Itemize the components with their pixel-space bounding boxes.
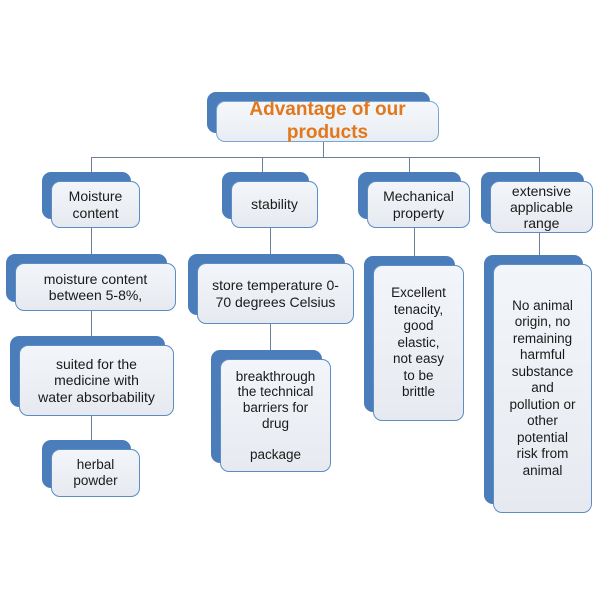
node-herbal-powder[interactable]: herbal powder bbox=[42, 440, 140, 497]
node-branch-mechanical-property-heading[interactable]: Mechanical property bbox=[358, 172, 470, 228]
node-label: breakthrough the technical barriers for … bbox=[236, 369, 316, 463]
connector-b1-child1-to-child2 bbox=[91, 311, 92, 338]
flowchart-canvas: Advantage of our products Moisture conte… bbox=[0, 0, 600, 600]
node-branch-moisture-content-heading[interactable]: Moisture content bbox=[42, 172, 140, 228]
node-card: breakthrough the technical barriers for … bbox=[220, 359, 331, 472]
node-label: moisture content between 5-8%, bbox=[44, 271, 148, 303]
node-label: Excellent tenacity, good elastic, not ea… bbox=[391, 285, 446, 400]
node-title-advantage-of-our-products[interactable]: Advantage of our products bbox=[207, 92, 439, 142]
node-label: Advantage of our products bbox=[249, 99, 405, 144]
connector-b1-child2-to-child3 bbox=[91, 416, 92, 442]
node-card: Mechanical property bbox=[367, 181, 470, 228]
connector-title-stem bbox=[323, 142, 324, 158]
node-card: herbal powder bbox=[51, 449, 140, 497]
node-excellent-tenacity[interactable]: Excellent tenacity, good elastic, not ea… bbox=[364, 256, 464, 421]
connector-horizontal-bus bbox=[91, 157, 539, 158]
connector-b2-child1-to-child2 bbox=[270, 324, 271, 350]
node-label: Moisture content bbox=[69, 188, 123, 220]
node-label: extensive applicable range bbox=[510, 183, 573, 232]
node-card: Excellent tenacity, good elastic, not ea… bbox=[373, 265, 464, 421]
node-label: store temperature 0- 70 degrees Celsius bbox=[212, 277, 339, 309]
connector-b4-heading-to-child1 bbox=[539, 233, 540, 257]
node-label: Mechanical property bbox=[383, 188, 454, 220]
connector-b1-heading-to-child1 bbox=[91, 228, 92, 256]
node-card: suited for the medicine with water absor… bbox=[19, 345, 174, 416]
node-card: store temperature 0- 70 degrees Celsius bbox=[197, 263, 354, 324]
node-card: Moisture content bbox=[51, 181, 140, 228]
node-no-animal-origin[interactable]: No animal origin, no remaining harmful s… bbox=[484, 255, 592, 513]
node-branch-stability-heading[interactable]: stability bbox=[222, 172, 318, 228]
node-label: suited for the medicine with water absor… bbox=[38, 356, 155, 405]
node-card: No animal origin, no remaining harmful s… bbox=[493, 264, 592, 513]
node-breakthrough-technical-barriers[interactable]: breakthrough the technical barriers for … bbox=[211, 350, 331, 472]
node-moisture-content-range[interactable]: moisture content between 5-8%, bbox=[6, 254, 176, 311]
node-card: Advantage of our products bbox=[216, 101, 439, 142]
node-store-temperature[interactable]: store temperature 0- 70 degrees Celsius bbox=[188, 254, 354, 324]
node-card: stability bbox=[231, 181, 318, 228]
node-card: extensive applicable range bbox=[490, 181, 593, 233]
node-label: No animal origin, no remaining harmful s… bbox=[509, 298, 575, 479]
node-label: stability bbox=[251, 196, 298, 212]
node-card: moisture content between 5-8%, bbox=[15, 263, 176, 311]
node-branch-extensive-applicable-range-heading[interactable]: extensive applicable range bbox=[481, 172, 593, 233]
node-label: herbal powder bbox=[73, 457, 117, 488]
node-suited-for-medicine[interactable]: suited for the medicine with water absor… bbox=[10, 336, 174, 416]
connector-b2-heading-to-child1 bbox=[270, 228, 271, 256]
connector-b3-heading-to-child1 bbox=[414, 228, 415, 256]
